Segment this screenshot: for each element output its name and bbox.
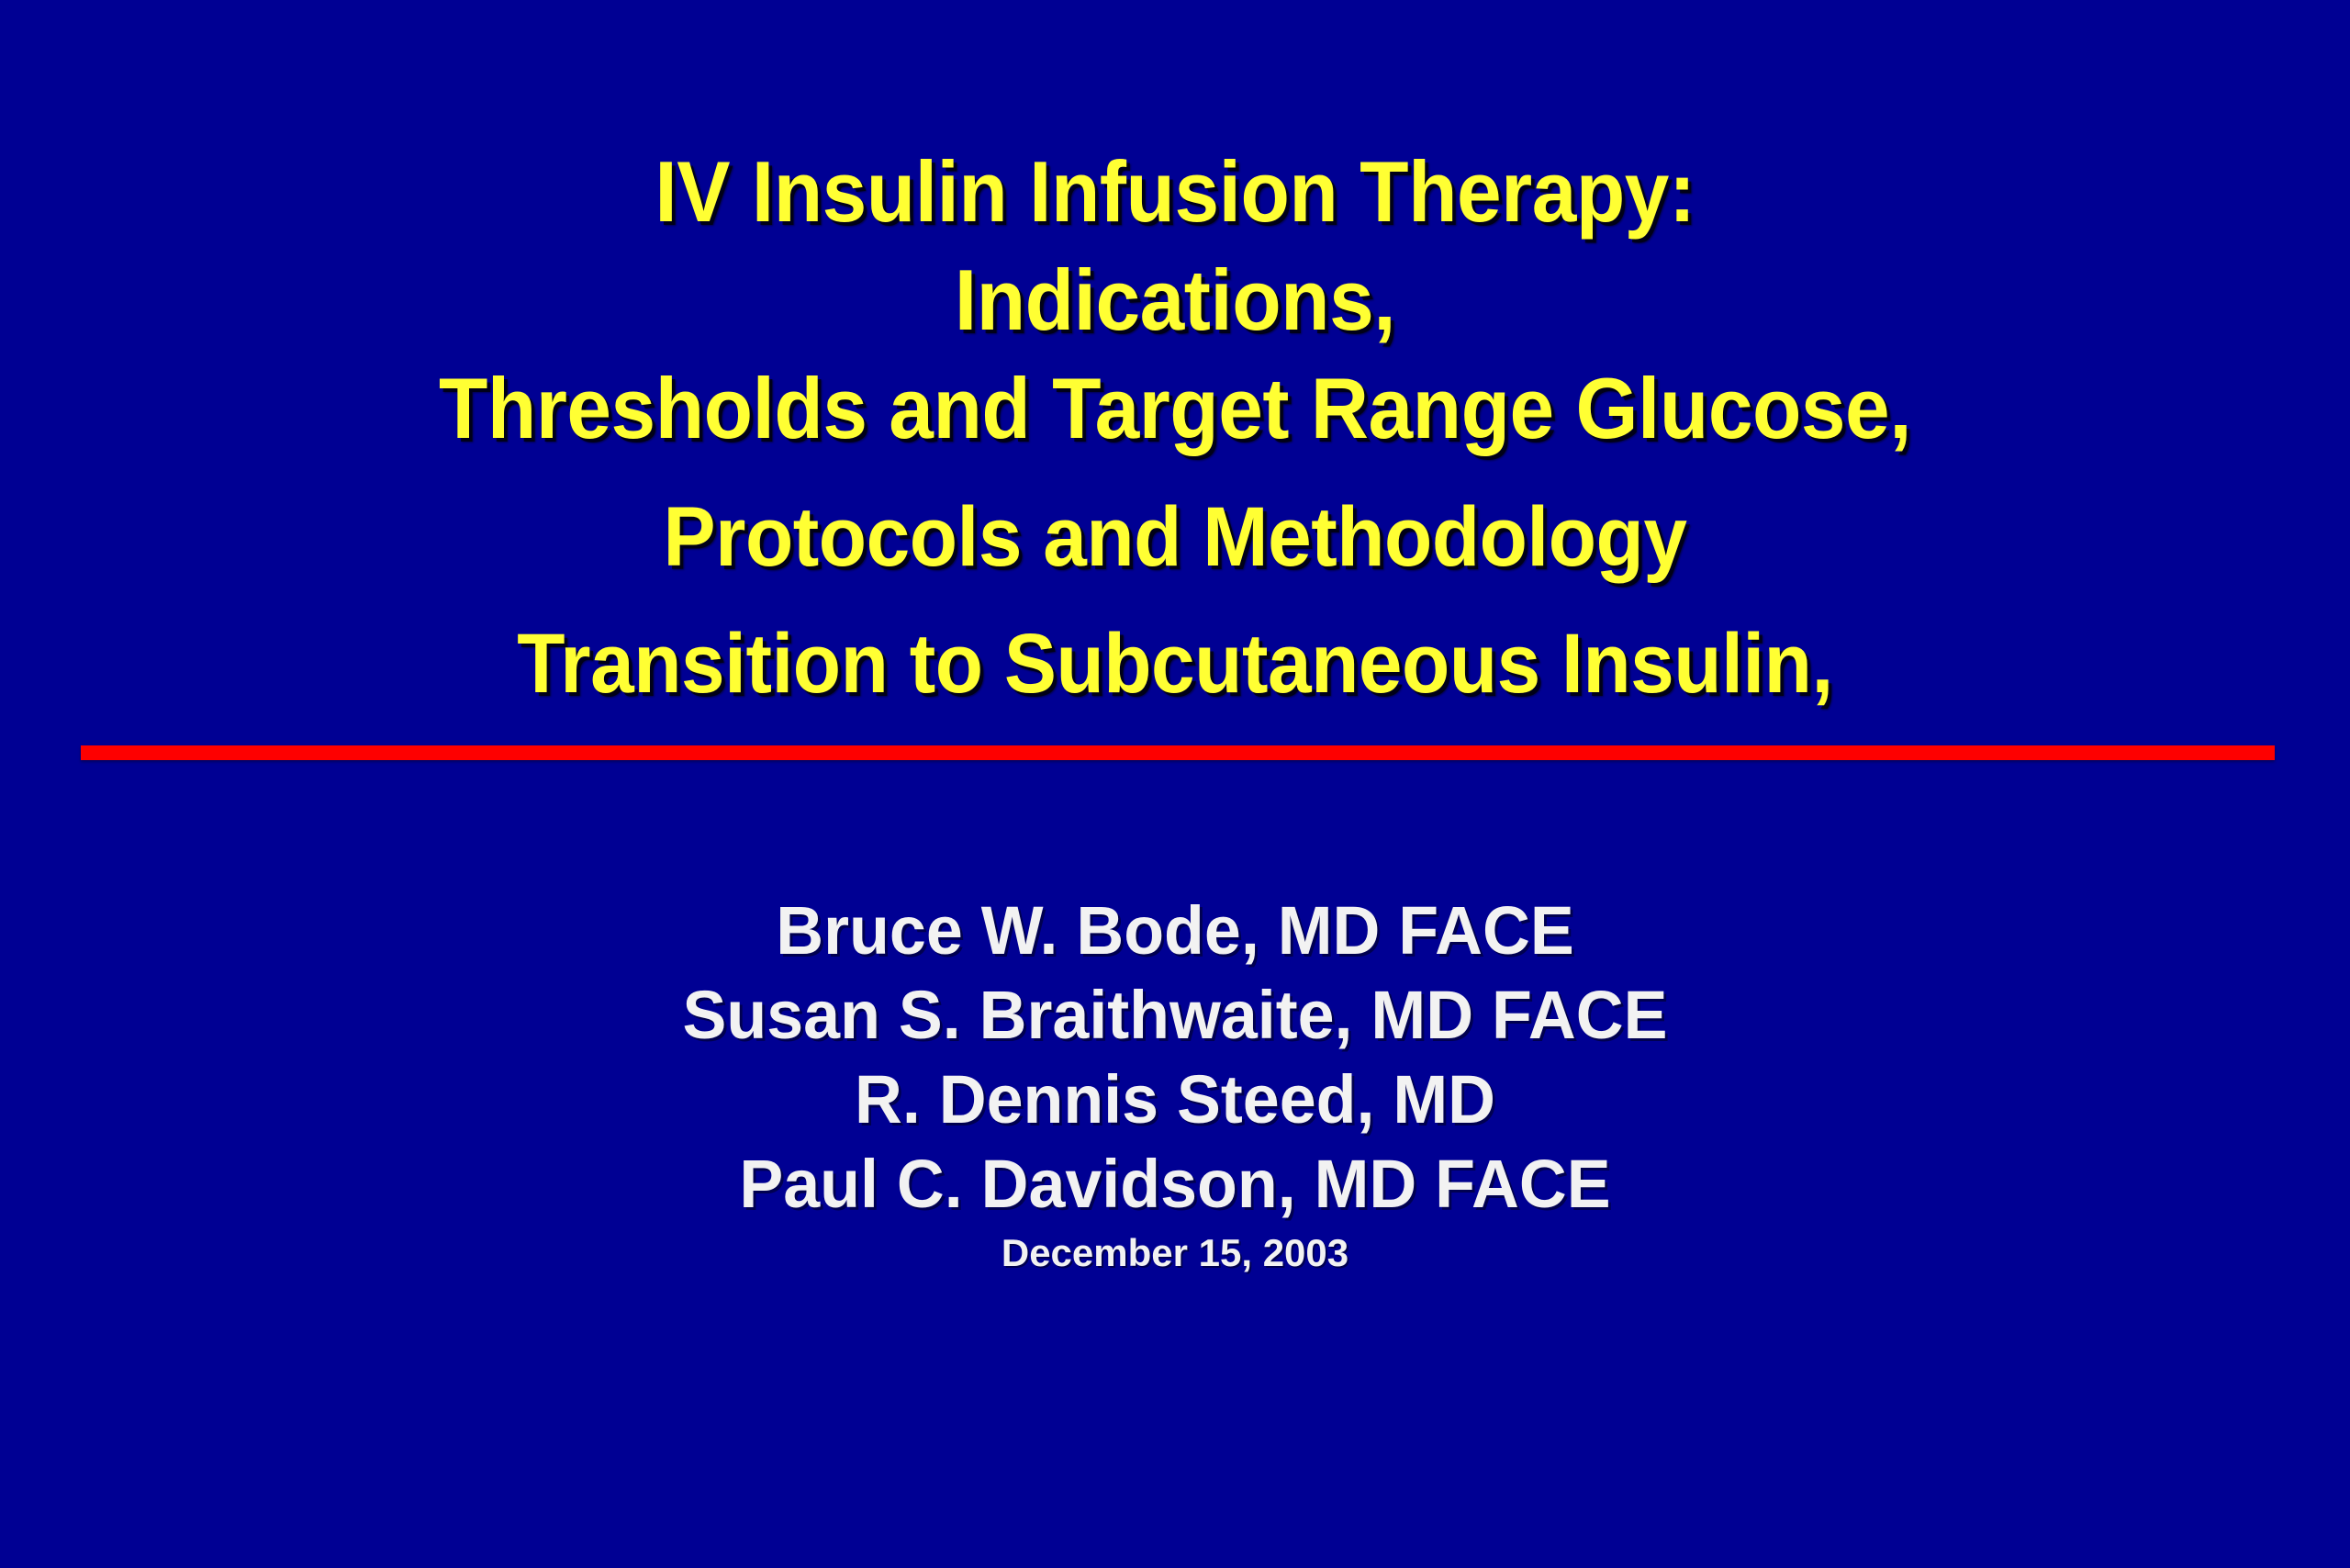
presentation-date: December 15, 2003 — [0, 1230, 2350, 1276]
author-line-3: R. Dennis Steed, MD — [35, 1058, 2314, 1142]
divider-rule — [81, 745, 2275, 760]
red-horizontal-rule — [81, 745, 2275, 760]
presentation-slide: IV Insulin Infusion Therapy: Indications… — [0, 0, 2350, 1568]
title-line-3: Thresholds and Target Range Glucose, — [83, 354, 2268, 463]
slide-title: IV Insulin Infusion Therapy: Indications… — [0, 138, 2350, 718]
author-list: Bruce W. Bode, MD FACE Susan S. Braithwa… — [0, 889, 2350, 1226]
author-line-1: Bruce W. Bode, MD FACE — [35, 889, 2314, 973]
author-line-2: Susan S. Braithwaite, MD FACE — [35, 973, 2314, 1058]
title-line-4: Protocols and Methodology — [83, 483, 2268, 591]
title-line-2: Indications, — [83, 246, 2268, 354]
author-line-4: Paul C. Davidson, MD FACE — [35, 1142, 2314, 1226]
title-line-5: Transition to Subcutaneous Insulin, — [83, 610, 2268, 718]
title-line-1: IV Insulin Infusion Therapy: — [83, 138, 2268, 246]
